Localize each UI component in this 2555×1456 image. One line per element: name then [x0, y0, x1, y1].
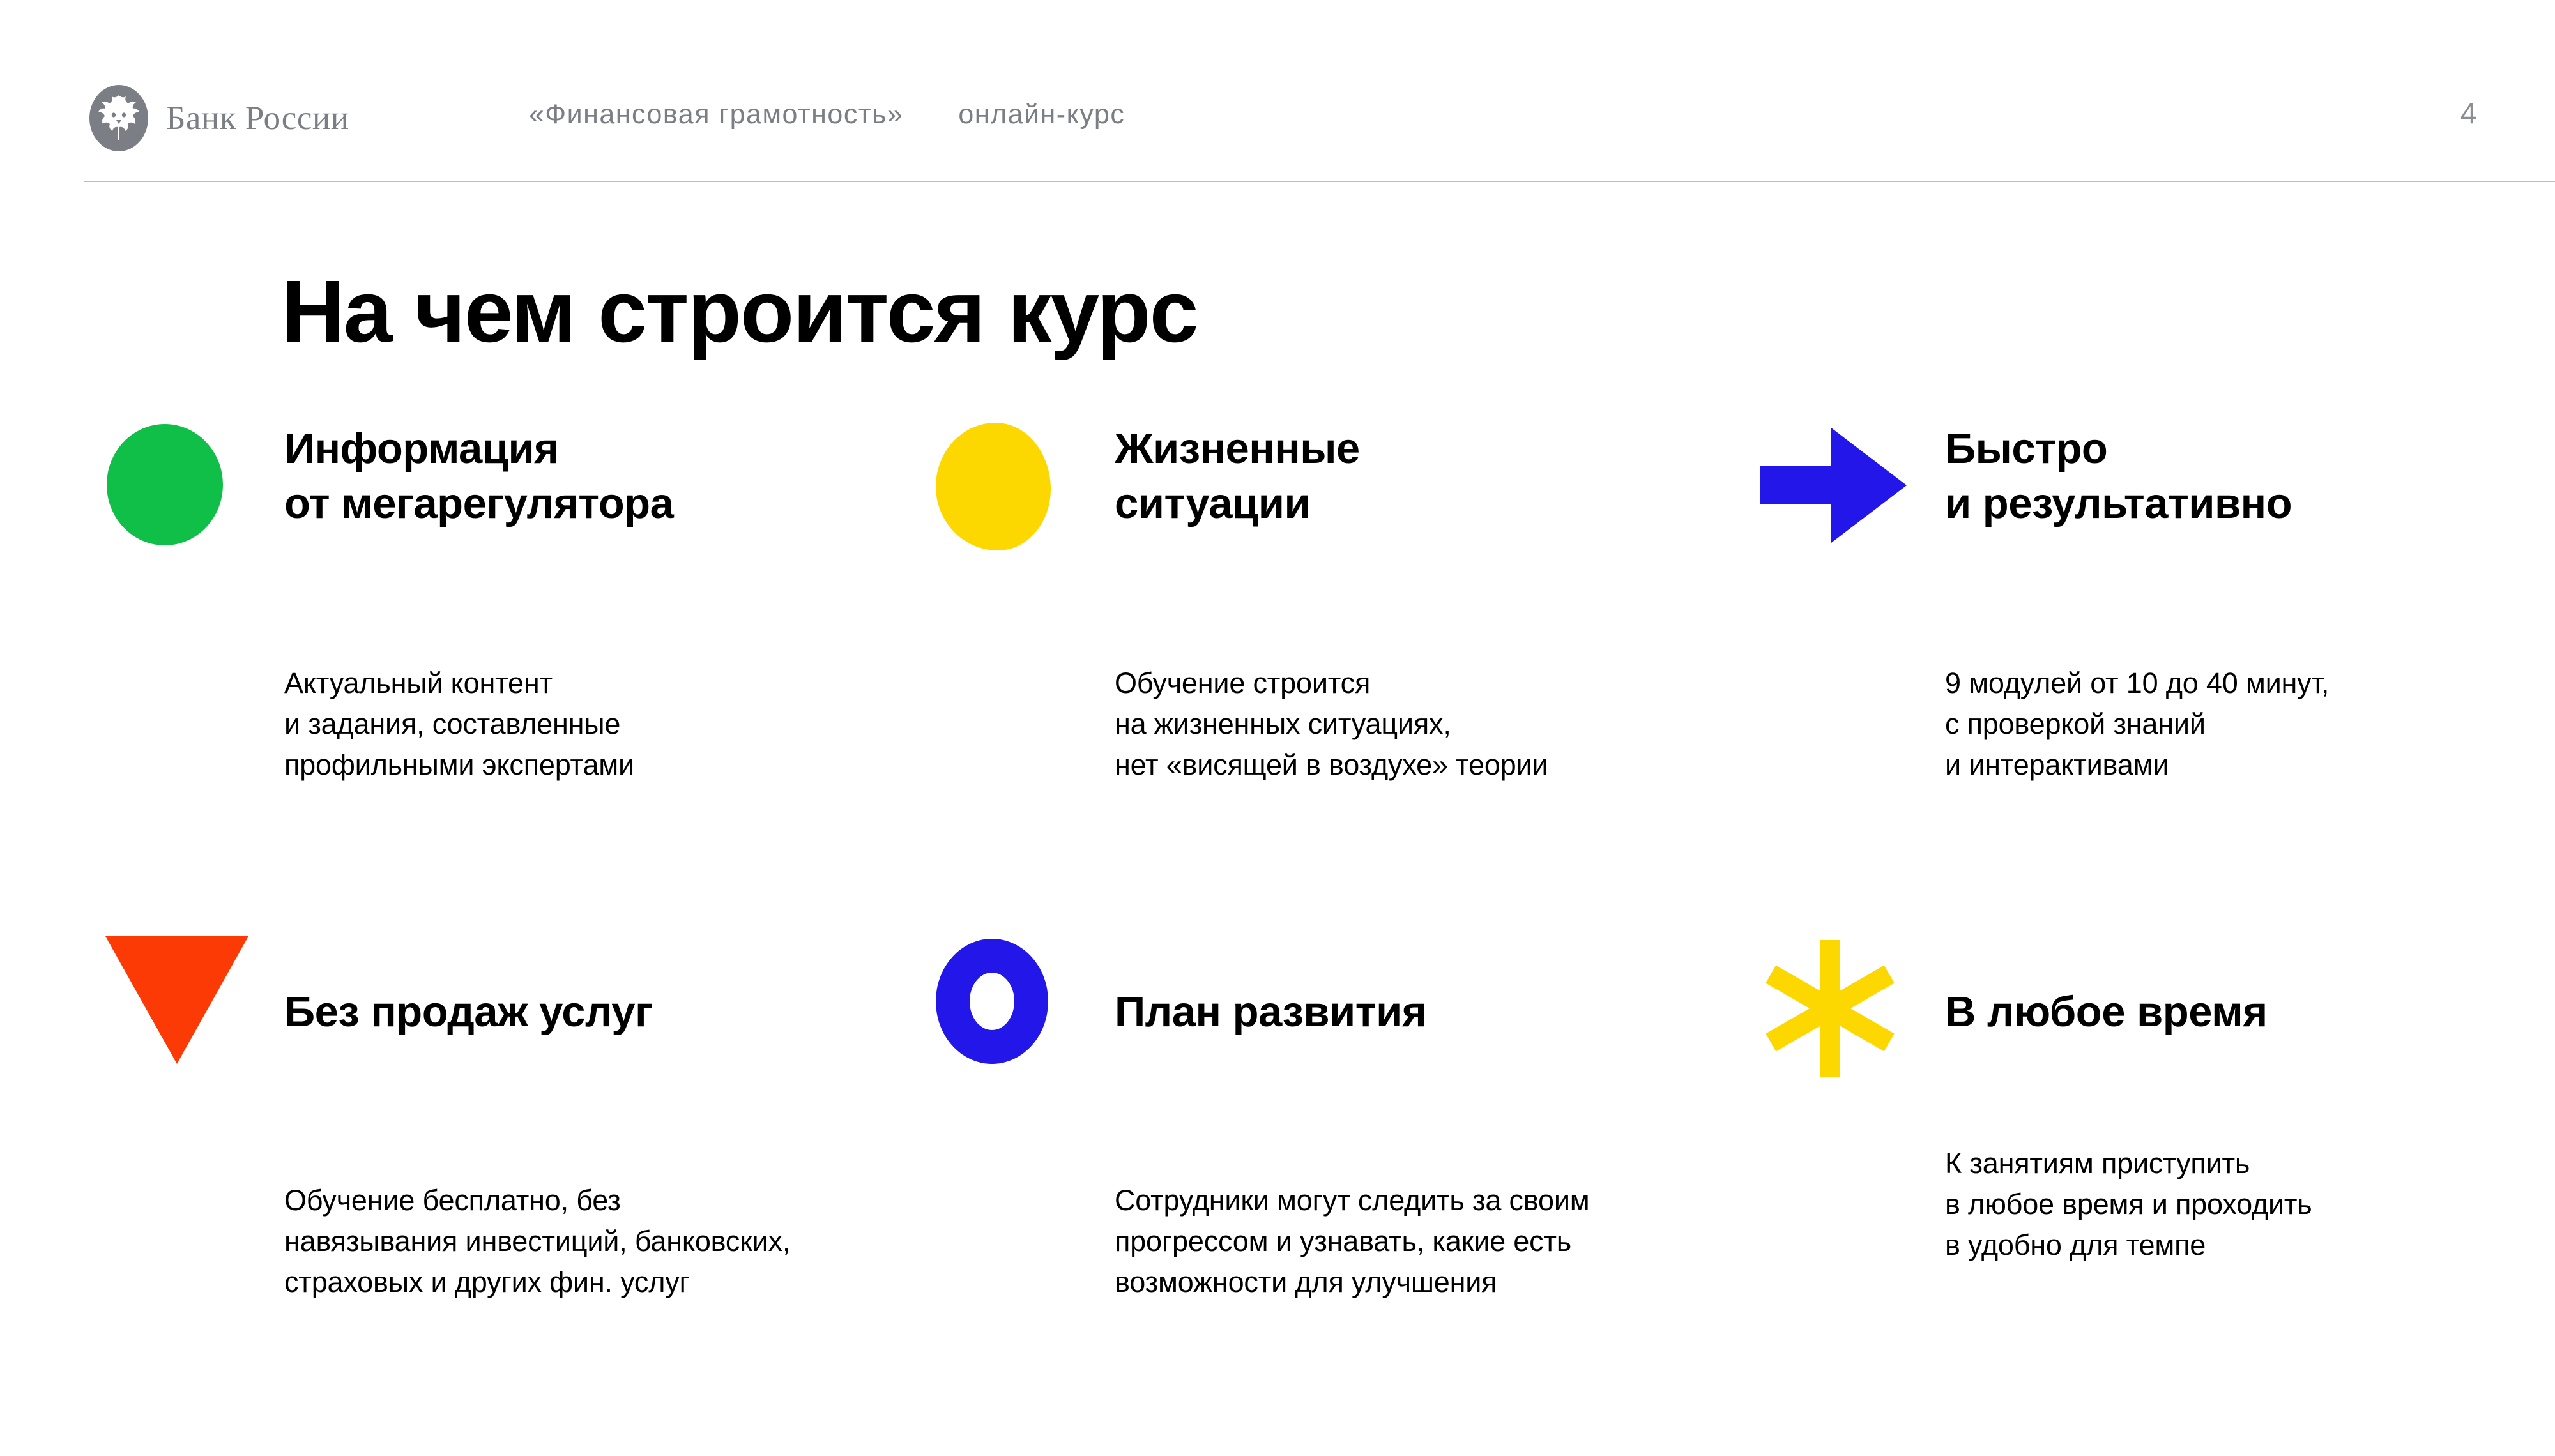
feature-card-title: Без продаж услуг — [284, 985, 652, 1040]
feature-card-title-line-1: План развития — [1115, 985, 1426, 1040]
feature-card-body-line-2: прогрессом и узнавать, какие есть — [1115, 1221, 1590, 1262]
blue-arrow-right-icon — [1760, 421, 1932, 568]
feature-card-no-sales: Без продаж услуг Обучение бесплатно, без… — [99, 939, 923, 1086]
feature-card-title: Жизненные ситуации — [1115, 421, 1360, 531]
feature-card-body: Обучение строится на жизненных ситуациях… — [1115, 663, 1548, 785]
feature-card-body: 9 модулей от 10 до 40 минут, с проверкой… — [1945, 663, 2329, 785]
green-circle-icon — [99, 421, 271, 568]
slide-header: Банк России «Финансовая грамотность» онл… — [0, 0, 2555, 185]
feature-row-2: Без продаж услуг Обучение бесплатно, без… — [0, 939, 2555, 1456]
feature-card-information: Информация от мегарегулятора Актуальный … — [99, 421, 923, 568]
feature-card-head: План развития — [929, 939, 1753, 1086]
feature-card-title: План развития — [1115, 985, 1426, 1040]
feature-card-title-line-2: ситуации — [1115, 476, 1360, 531]
feature-card-body-line-1: Сотрудники могут следить за своим — [1115, 1180, 1590, 1221]
blue-arrow-right-shape — [1760, 428, 1907, 543]
header-divider — [84, 181, 2555, 182]
feature-card-body-line-1: Актуальный контент — [284, 663, 634, 704]
feature-card-fast-effective: Быстро и результативно 9 модулей от 10 д… — [1760, 421, 2555, 568]
red-triangle-down-shape — [105, 936, 248, 1064]
feature-card-body-line-3: возможности для улучшения — [1115, 1262, 1590, 1303]
feature-card-body: Сотрудники могут следить за своим прогре… — [1115, 1180, 1590, 1303]
double-headed-eagle-emblem-icon — [88, 84, 149, 153]
feature-card-title-line-1: В любое время — [1945, 985, 2268, 1040]
page-title: На чем строится курс — [281, 268, 1197, 356]
feature-card-body-line-2: с проверкой знаний — [1945, 704, 2329, 745]
feature-card-life-situations: Жизненные ситуации Обучение строится на … — [929, 421, 1753, 568]
feature-card-body-line-2: и задания, составленные — [284, 704, 634, 745]
logo-wordmark: Банк России — [166, 99, 349, 137]
yellow-asterisk-shape — [1753, 935, 1907, 1082]
feature-card-title-line-1: Быстро — [1945, 421, 2292, 476]
feature-card-title-line-1: Информация — [284, 421, 673, 476]
page-number: 4 — [2460, 96, 2477, 130]
feature-card-body: Обучение бесплатно, без навязывания инве… — [284, 1180, 790, 1303]
feature-card-body-line-1: Обучение бесплатно, без — [284, 1180, 790, 1221]
feature-card-title-line-2: и результативно — [1945, 476, 2292, 531]
feature-card-body-line-1: 9 модулей от 10 до 40 минут, — [1945, 663, 2329, 704]
feature-card-title-line-1: Без продаж услуг — [284, 985, 652, 1040]
feature-card-body: Актуальный контент и задания, составленн… — [284, 663, 634, 785]
feature-card-head: Жизненные ситуации — [929, 421, 1753, 568]
bank-of-russia-logo: Банк России — [88, 84, 349, 153]
feature-card-title-line-2: от мегарегулятора — [284, 476, 673, 531]
feature-card-body-line-2: на жизненных ситуациях, — [1115, 704, 1548, 745]
feature-grid: Информация от мегарегулятора Актуальный … — [0, 421, 2555, 1456]
feature-card-body-line-3: страховых и других фин. услуг — [284, 1262, 790, 1303]
feature-card-body-line-2: навязывания инвестиций, банковских, — [284, 1221, 790, 1262]
feature-card-head: Без продаж услуг — [99, 939, 923, 1086]
header-caption-course-name: «Финансовая грамотность» — [529, 99, 903, 130]
feature-card-development-plan: План развития Сотрудники могут следить з… — [929, 939, 1753, 1086]
feature-row-1: Информация от мегарегулятора Актуальный … — [0, 421, 2555, 939]
feature-card-body: К занятиям приступить в любое время и пр… — [1945, 1143, 2312, 1266]
feature-card-body-line-3: в удобно для темпе — [1945, 1225, 2312, 1266]
feature-card-body-line-2: в любое время и проходить — [1945, 1184, 2312, 1225]
feature-card-body-line-1: К занятиям приступить — [1945, 1143, 2312, 1184]
feature-card-head: В любое время — [1760, 939, 2555, 1086]
feature-card-body-line-1: Обучение строится — [1115, 663, 1548, 704]
yellow-blob-icon — [929, 421, 1102, 568]
yellow-blob-shape — [936, 423, 1051, 550]
header-caption-format: онлайн-курс — [958, 99, 1125, 130]
red-triangle-down-icon — [99, 939, 271, 1086]
header-caption: «Финансовая грамотность» онлайн-курс — [529, 99, 1125, 130]
feature-card-title-line-1: Жизненные — [1115, 421, 1360, 476]
feature-card-head: Быстро и результативно — [1760, 421, 2555, 568]
blue-ring-shape — [936, 939, 1048, 1064]
feature-card-head: Информация от мегарегулятора — [99, 421, 923, 568]
feature-card-anytime: В любое время К занятиям приступить в лю… — [1760, 939, 2555, 1086]
feature-card-title: Быстро и результативно — [1945, 421, 2292, 531]
feature-card-body-line-3: нет «висящей в воздухе» теории — [1115, 745, 1548, 785]
feature-card-title: В любое время — [1945, 985, 2268, 1040]
blue-ring-icon — [929, 939, 1102, 1086]
feature-card-body-line-3: и интерактивами — [1945, 745, 2329, 785]
yellow-asterisk-icon — [1760, 939, 1932, 1086]
feature-card-title: Информация от мегарегулятора — [284, 421, 673, 531]
feature-card-body-line-3: профильными экспертами — [284, 745, 634, 785]
green-circle-shape — [107, 424, 223, 545]
